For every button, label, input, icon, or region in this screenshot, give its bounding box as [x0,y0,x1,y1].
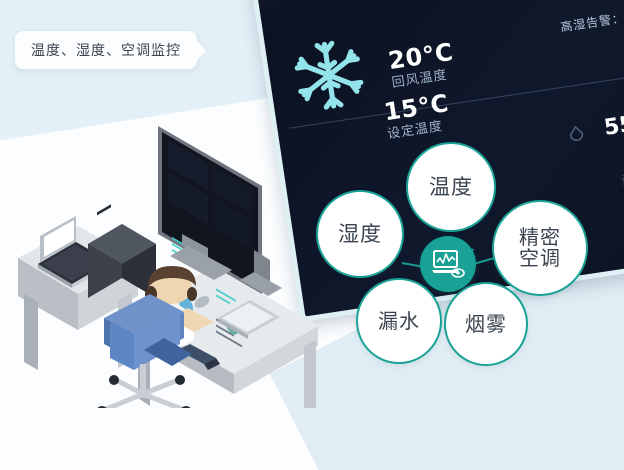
bubble-water-leak[interactable]: 漏水 [356,278,442,364]
callout-tag-label: 温度、湿度、空调监控 [31,43,181,59]
bubble-label: 漏水 [378,311,420,332]
bubble-humidity[interactable]: 湿度 [316,190,404,278]
isometric-noc-workstation [18,118,318,408]
alarm-high-humidity: 高湿告警：正常 [559,5,624,35]
bubble-label: 温度 [429,176,473,198]
reading-return-air-temp: 20°C 回风温度 [387,38,458,91]
bubble-label: 烟雾 [465,314,507,335]
bubble-smoke[interactable]: 烟雾 [444,282,528,366]
bubble-label: 湿度 [338,223,382,245]
bubble-temperature[interactable]: 温度 [406,142,496,232]
bubble-label-line2: 空调 [519,248,561,269]
bubble-center-hub[interactable] [420,236,476,292]
bubble-precision-ac[interactable]: 精密 空调 [492,200,588,296]
snowflake-icon [287,33,371,117]
humidity-readout: 55% [602,108,624,141]
feature-bubble-cluster: 温度 湿度 精密 空调 漏水 烟雾 [310,140,624,378]
infographic-canvas: 天18小时24分 20°C 回风温度 15°C 设定温度 [0,0,624,470]
alarm-label: 高湿告警： [559,11,624,34]
reading-setpoint-temp: 15°C 设定温度 [382,89,453,142]
bubble-label-line1: 精密 [519,227,561,248]
monitoring-laptop-icon [431,249,465,279]
callout-tag: 温度、湿度、空调监控 [14,30,198,70]
alarm-status-list: 高温报警：正常 高湿告警：正常 [554,0,624,55]
